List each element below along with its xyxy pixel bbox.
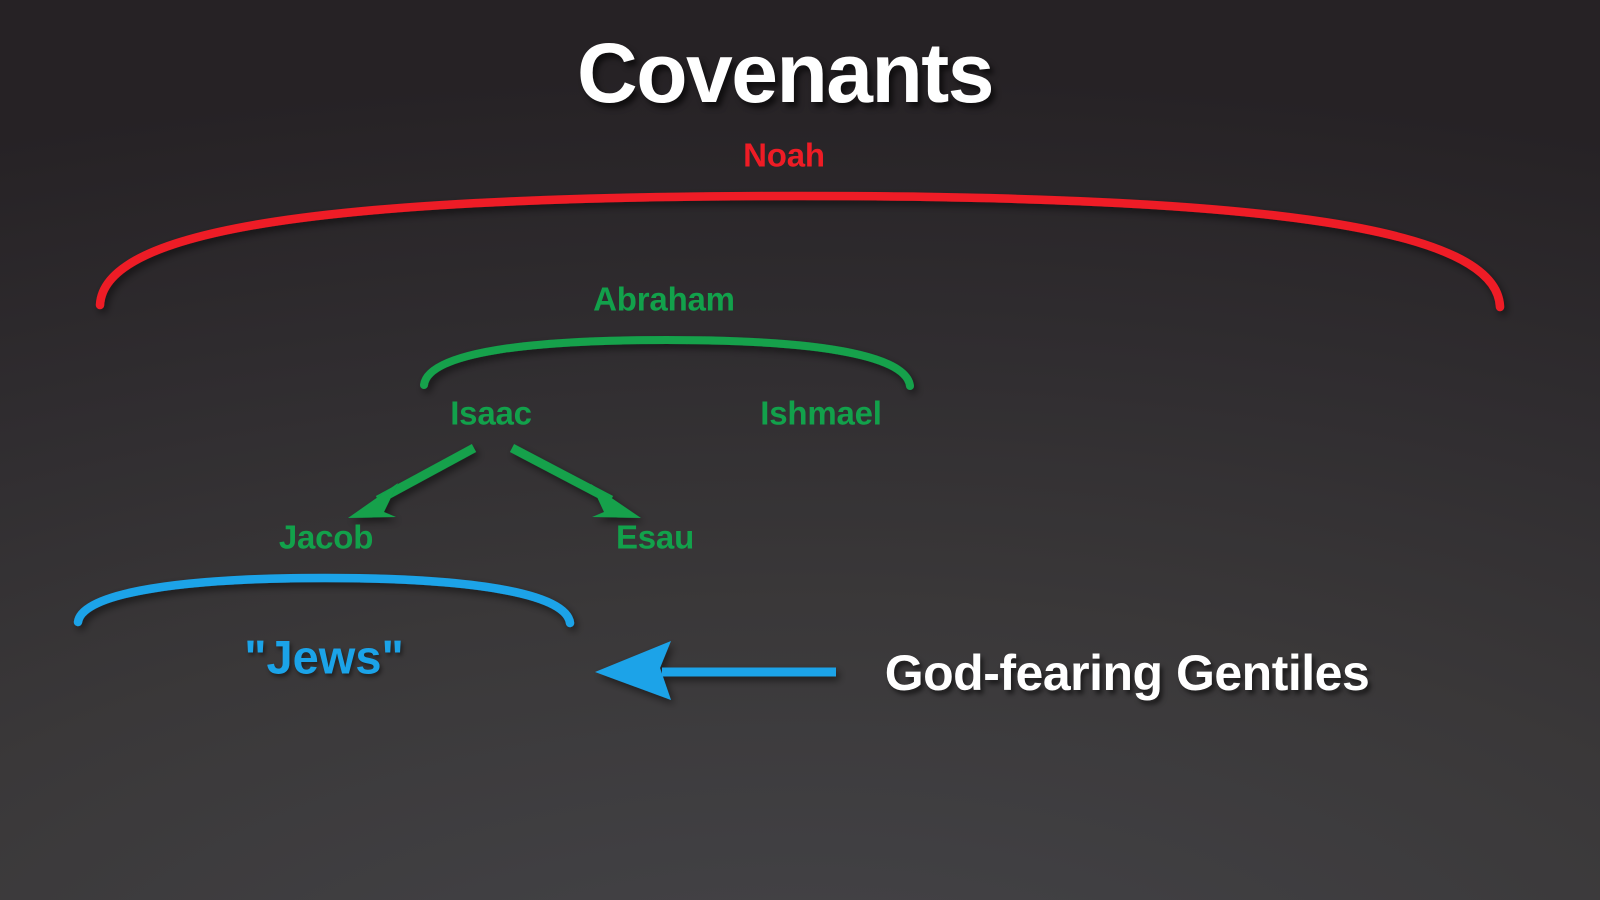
- label-isaac: Isaac: [450, 397, 532, 430]
- label-jews: "Jews": [244, 634, 404, 681]
- gentiles-to-jews-arrow: [595, 641, 836, 700]
- abraham-bracket-arc: [424, 340, 910, 386]
- label-abraham: Abraham: [593, 283, 735, 316]
- diagram-graphics: [0, 0, 1600, 900]
- label-noah: Noah: [743, 139, 825, 172]
- noah-bracket-arc: [100, 196, 1500, 307]
- label-jacob: Jacob: [279, 521, 373, 554]
- page-title: Covenants: [577, 31, 993, 115]
- isaac-to-esau-arrow: [512, 448, 641, 518]
- jews-bracket-arc: [78, 578, 570, 623]
- label-ishmael: Ishmael: [760, 397, 882, 430]
- covenants-slide: Covenants Noah Abraham Isaac Ishmael Jac…: [0, 0, 1600, 900]
- isaac-to-jacob-arrow: [348, 448, 474, 518]
- label-esau: Esau: [616, 521, 694, 554]
- label-god-fearing-gentiles: God-fearing Gentiles: [885, 648, 1370, 698]
